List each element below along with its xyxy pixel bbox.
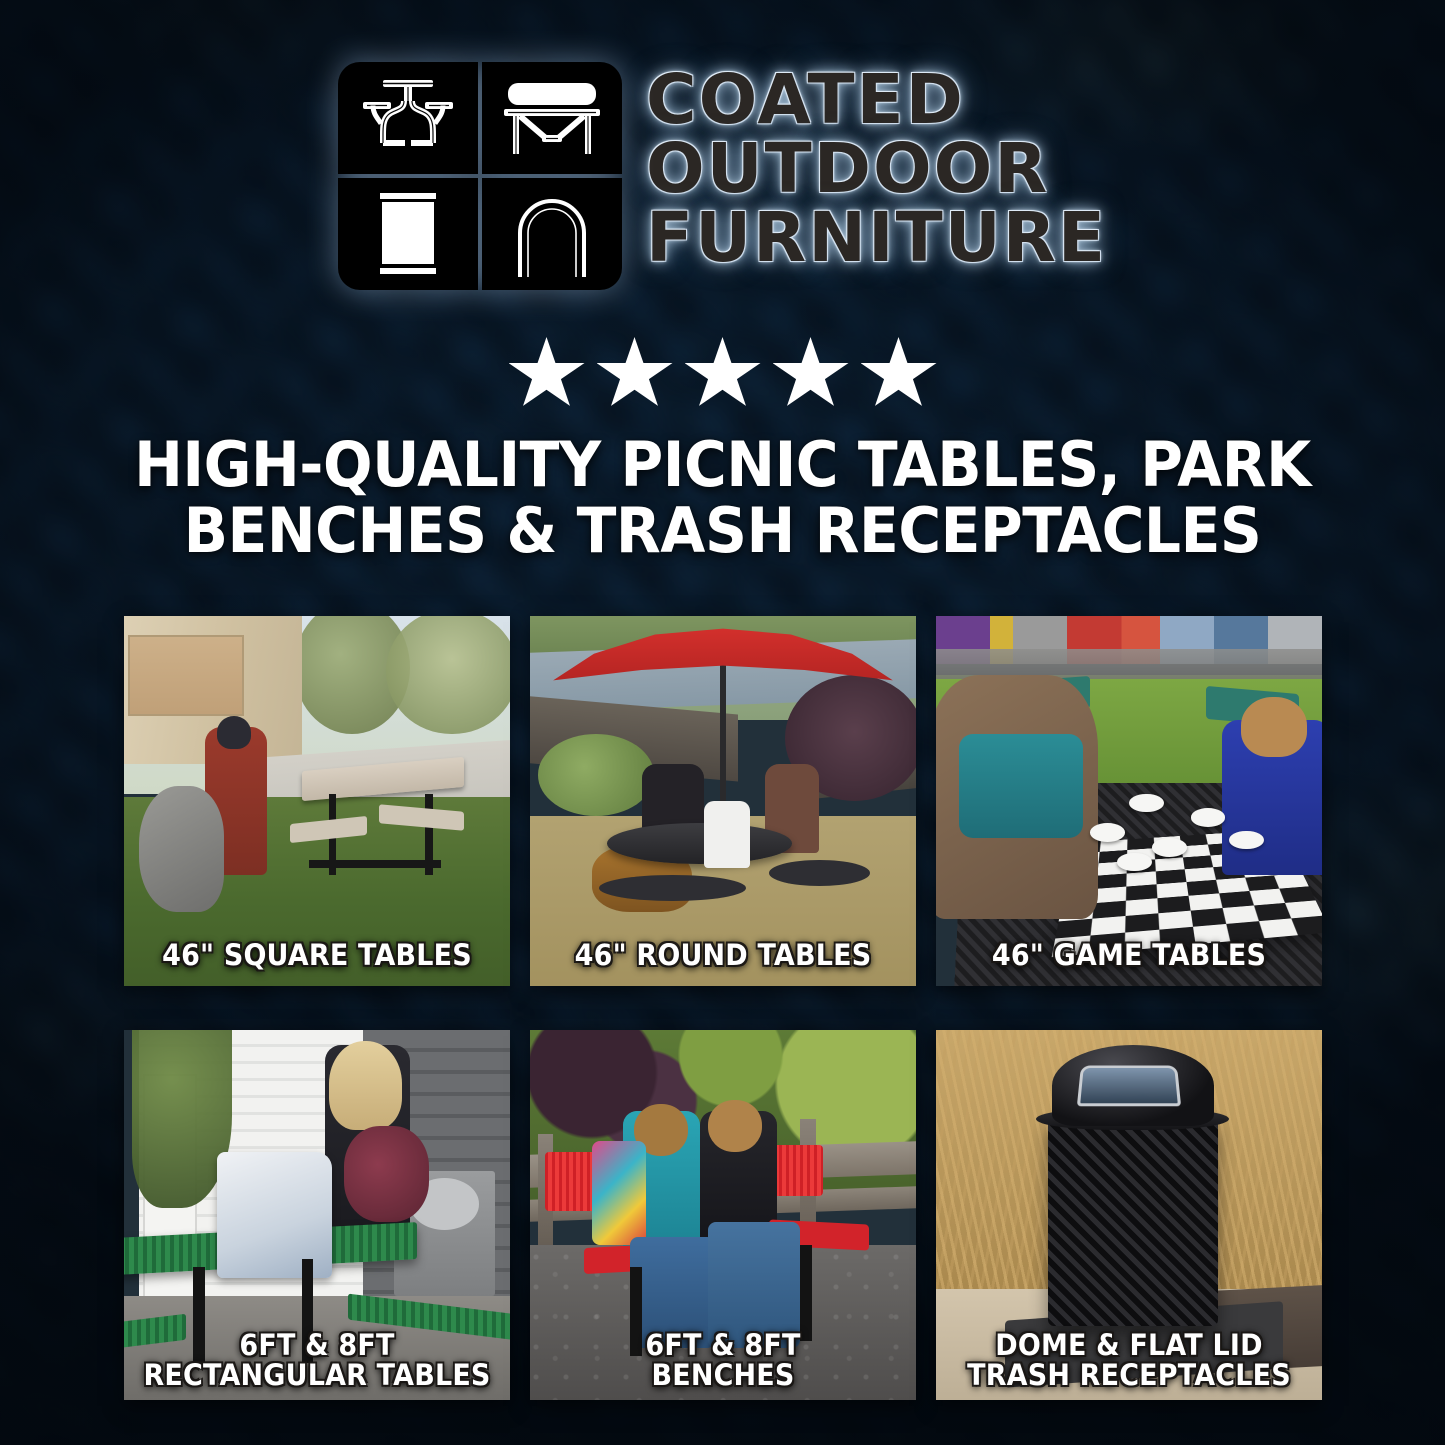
headline-line-1: HIGH-QUALITY PICNIC TABLES, PARK: [43, 432, 1401, 498]
picnic-table-icon: [338, 62, 478, 174]
caption-line: 46" ROUND TABLES: [544, 940, 903, 970]
star-icon-4: [773, 337, 849, 411]
product-caption-game-tables: 46" GAME TABLES: [950, 940, 1309, 970]
brand-logo: COATED OUTDOOR FURNITURE: [0, 62, 1445, 290]
brand-wordmark: COATED OUTDOOR FURNITURE: [646, 62, 1107, 271]
caption-line: 6FT & 8FT: [544, 1330, 903, 1360]
trash-receptacle-icon: [338, 178, 478, 290]
caption-line: 46" SQUARE TABLES: [138, 940, 497, 970]
product-card-round-tables[interactable]: 46" ROUND TABLES: [530, 616, 916, 986]
product-card-game-tables[interactable]: 46" GAME TABLES: [936, 616, 1322, 986]
logo-icon-grid: [338, 62, 622, 290]
caption-line: TRASH RECEPTACLES: [950, 1360, 1309, 1390]
brand-line-3: FURNITURE: [646, 206, 1107, 271]
star-icon-5: [861, 337, 937, 411]
headline-line-2: BENCHES & TRASH RECEPTACLES: [43, 498, 1401, 564]
product-card-benches[interactable]: 6FT & 8FT BENCHES: [530, 1030, 916, 1400]
caption-line: 6FT & 8FT: [138, 1330, 497, 1360]
caption-line: RECTANGULAR TABLES: [138, 1360, 497, 1390]
product-card-square-tables[interactable]: 46" SQUARE TABLES: [124, 616, 510, 986]
product-photo-game-tables: [936, 616, 1322, 986]
headline: HIGH-QUALITY PICNIC TABLES, PARK BENCHES…: [43, 432, 1401, 563]
product-caption-trash-receptacles: DOME & FLAT LID TRASH RECEPTACLES: [950, 1330, 1309, 1390]
star-rating: [0, 337, 1445, 411]
star-icon-3: [685, 337, 761, 411]
product-photo-square-tables: [124, 616, 510, 986]
brand-line-1: COATED: [646, 68, 1107, 133]
product-caption-rectangular-tables: 6FT & 8FT RECTANGULAR TABLES: [138, 1330, 497, 1390]
caption-line: DOME & FLAT LID: [950, 1330, 1309, 1360]
product-caption-benches: 6FT & 8FT BENCHES: [544, 1330, 903, 1390]
product-grid: 46" SQUARE TABLES: [124, 616, 1322, 1400]
poster-canvas: COATED OUTDOOR FURNITURE HIGH-QUALITY PI…: [0, 0, 1445, 1445]
caption-line: 46" GAME TABLES: [950, 940, 1309, 970]
product-caption-square-tables: 46" SQUARE TABLES: [138, 940, 497, 970]
caption-line: BENCHES: [544, 1360, 903, 1390]
bench-table-icon: [482, 62, 622, 174]
bike-rack-icon: [482, 178, 622, 290]
brand-line-2: OUTDOOR: [646, 137, 1107, 202]
product-card-rectangular-tables[interactable]: 6FT & 8FT RECTANGULAR TABLES: [124, 1030, 510, 1400]
star-icon-1: [509, 337, 585, 411]
poster-content: COATED OUTDOOR FURNITURE HIGH-QUALITY PI…: [0, 0, 1445, 1445]
star-icon-2: [597, 337, 673, 411]
product-photo-round-tables: [530, 616, 916, 986]
product-card-trash-receptacles[interactable]: DOME & FLAT LID TRASH RECEPTACLES: [936, 1030, 1322, 1400]
product-caption-round-tables: 46" ROUND TABLES: [544, 940, 903, 970]
